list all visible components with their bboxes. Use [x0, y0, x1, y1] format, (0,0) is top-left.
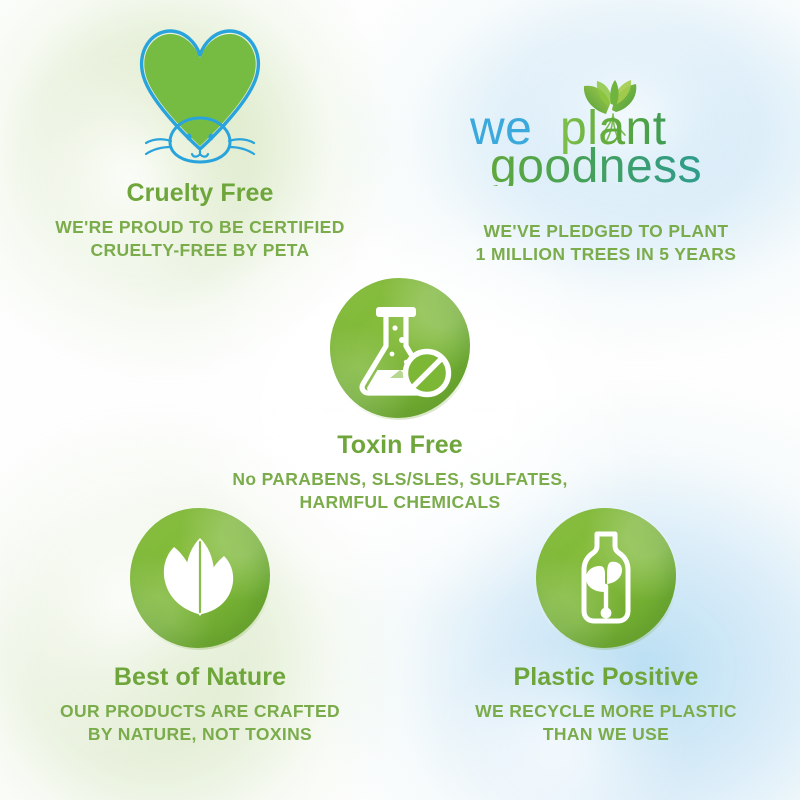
- badge-description-line: No PARABENS, SLS/SLES, SULFATES,: [214, 468, 586, 491]
- bottle-with-sprout-icon: [536, 508, 676, 648]
- badge-description-line: 1 MILLION TREES IN 5 YEARS: [420, 243, 792, 266]
- badge-cruelty-free: Cruelty Free WE'RE PROUD TO BE CERTIFIED…: [14, 18, 386, 262]
- peta-cruelty-free-bunny-icon: [130, 18, 270, 168]
- badge-title: Best of Nature: [14, 664, 386, 692]
- badge-best-of-nature: Best of Nature OUR PRODUCTS ARE CRAFTED …: [14, 508, 386, 746]
- badge-description-line: THAN WE USE: [420, 723, 792, 746]
- badge-title: Plastic Positive: [420, 664, 792, 692]
- flask-no-toxins-icon: [330, 278, 470, 418]
- badge-description-line: CRUELTY-FREE BY PETA: [14, 239, 386, 262]
- badge-title: Cruelty Free: [14, 180, 386, 208]
- badge-toxin-free: Toxin Free No PARABENS, SLS/SLES, SULFAT…: [214, 278, 586, 514]
- badge-description-line: BY NATURE, NOT TOXINS: [14, 723, 386, 746]
- brand-values-poster: Cruelty Free WE'RE PROUD TO BE CERTIFIED…: [0, 0, 800, 800]
- we-plant-goodness-logo: we plant goodness: [456, 78, 756, 186]
- badge-description: WE'RE PROUD TO BE CERTIFIED CRUELTY-FREE…: [14, 216, 386, 262]
- badge-description-line: WE RECYCLE MORE PLASTIC: [420, 700, 792, 723]
- badge-description: WE RECYCLE MORE PLASTIC THAN WE USE: [420, 700, 792, 746]
- badge-description-line: WE'RE PROUD TO BE CERTIFIED: [14, 216, 386, 239]
- badge-description-line: OUR PRODUCTS ARE CRAFTED: [14, 700, 386, 723]
- badge-title: Toxin Free: [214, 432, 586, 460]
- badge-we-plant-goodness: we plant goodness WE'VE PLEDGED TO PLANT…: [420, 78, 792, 266]
- badge-plastic-positive: Plastic Positive WE RECYCLE MORE PLASTIC…: [420, 508, 792, 746]
- badge-description-line: WE'VE PLEDGED TO PLANT: [420, 220, 792, 243]
- badge-description: No PARABENS, SLS/SLES, SULFATES, HARMFUL…: [214, 468, 586, 514]
- three-leaves-icon: [130, 508, 270, 648]
- badge-description: WE'VE PLEDGED TO PLANT 1 MILLION TREES I…: [420, 220, 792, 266]
- logo-word-goodness: goodness: [490, 140, 702, 186]
- badge-description: OUR PRODUCTS ARE CRAFTED BY NATURE, NOT …: [14, 700, 386, 746]
